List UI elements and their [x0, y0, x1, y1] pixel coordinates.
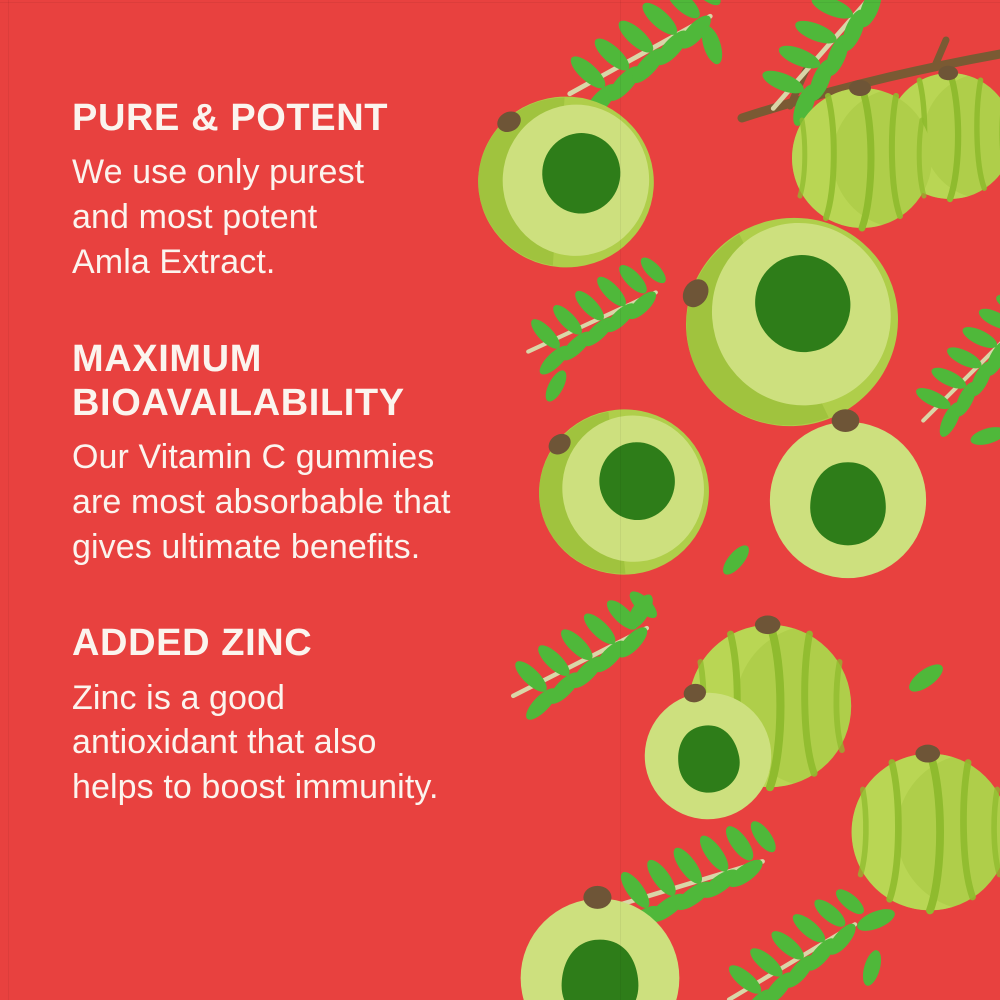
cutface-amla-bottom — [521, 886, 680, 1000]
leaf-sprig-bottom-center — [594, 773, 788, 982]
benefit-title: PURE & POTENT — [72, 96, 542, 140]
benefit-body-line: Zinc is a good — [72, 676, 542, 721]
benefit-body-line: and most potent — [72, 195, 542, 240]
loose-leaf-c — [719, 541, 754, 578]
loose-leaf-f — [859, 948, 884, 988]
loose-leaf-e — [854, 905, 897, 936]
loose-leaf-g — [541, 367, 570, 404]
poster-canvas: PURE & POTENT We use only purest and mos… — [0, 0, 1000, 1000]
benefit-body-line: Our Vitamin C gummies — [72, 435, 542, 480]
benefit-body-line: gives ultimate benefits. — [72, 525, 542, 570]
benefit-pure-and-potent: PURE & POTENT We use only purest and mos… — [72, 96, 542, 285]
benefit-body-line: helps to boost immunity. — [72, 765, 542, 810]
benefit-body: Zinc is a good antioxidant that also hel… — [72, 676, 542, 811]
benefit-title: MAXIMUM BIOAVAILABILITY — [72, 337, 542, 425]
benefit-body: We use only purest and most potent Amla … — [72, 150, 542, 285]
seam-mid — [620, 0, 621, 1000]
benefit-body-line: Amla Extract. — [72, 240, 542, 285]
benefit-maximum-bioavailability: MAXIMUM BIOAVAILABILITY Our Vitamin C gu… — [72, 337, 542, 570]
branch-top-right — [742, 40, 1000, 118]
cutface-amla-mid-right — [770, 409, 926, 578]
whole-amla-top-right-b — [887, 66, 1000, 199]
loose-leaf-h — [969, 424, 1000, 449]
halved-amla-center-large — [651, 182, 933, 462]
leaf-sprig-bottom-right — [715, 865, 871, 1000]
benefit-body: Our Vitamin C gummies are most absorbabl… — [72, 435, 542, 570]
benefit-title: ADDED ZINC — [72, 621, 542, 665]
benefit-added-zinc: ADDED ZINC Zinc is a good antioxidant th… — [72, 621, 542, 810]
seam-top — [0, 2, 1000, 3]
seam-left — [8, 0, 9, 1000]
benefit-body-line: We use only purest — [72, 150, 542, 195]
loose-leaf-a — [698, 23, 727, 66]
leaf-sprig-right-edge — [910, 290, 1000, 441]
benefit-body-line: antioxidant that also — [72, 720, 542, 765]
loose-leaf-d — [905, 659, 947, 696]
leaf-sprig-top-center — [554, 0, 730, 147]
benefit-body-line: are most absorbable that — [72, 480, 542, 525]
loose-leaf-b — [622, 591, 658, 634]
cutface-amla-lower-left — [633, 673, 781, 830]
whole-amla-lower-center — [689, 616, 851, 788]
whole-amla-lower-right — [852, 745, 1000, 911]
benefits-list: PURE & POTENT We use only purest and mos… — [72, 96, 542, 810]
halved-amla-mid-left — [531, 401, 717, 583]
leaf-sprig-top-right — [747, 0, 902, 133]
whole-amla-top-right-a — [792, 80, 932, 228]
